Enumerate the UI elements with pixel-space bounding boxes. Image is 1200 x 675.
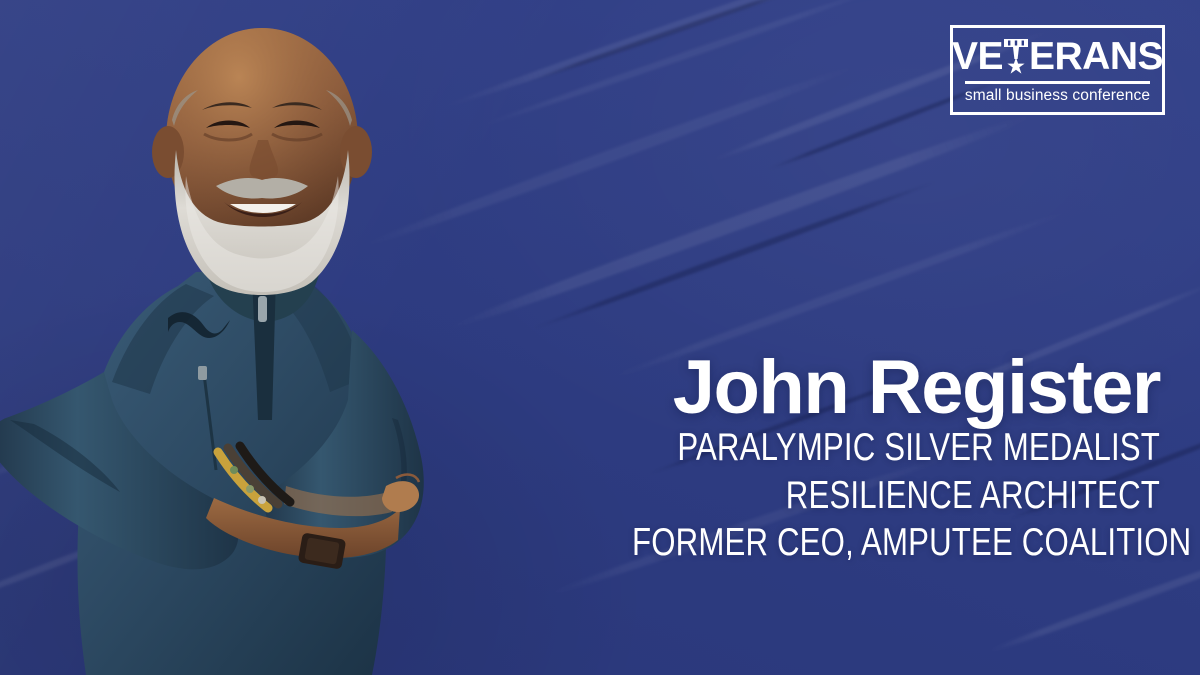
medal-star-icon [1003,37,1029,76]
logo-word-part1: VE [952,37,1003,76]
credential-line-2: RESILIENCE ARCHITECT [632,472,1160,520]
speaker-name: John Register [500,352,1160,424]
credential-line-1: PARALYMPIC SILVER MEDALIST [632,424,1160,472]
promo-graphic: John Register PARALYMPIC SILVER MEDALIST… [0,0,1200,675]
logo-wordmark: VE ERANS [952,37,1163,76]
veterans-small-business-conference-logo: VE ERANS small business conference [950,25,1165,115]
speaker-portrait [0,0,560,675]
logo-tagline: small business conference [965,88,1150,104]
credential-line-3: FORMER CEO, AMPUTEE COALITION [632,519,1160,567]
logo-divider [965,81,1150,84]
speaker-text-block: John Register PARALYMPIC SILVER MEDALIST… [500,352,1160,567]
logo-word-part2: ERANS [1029,37,1163,76]
